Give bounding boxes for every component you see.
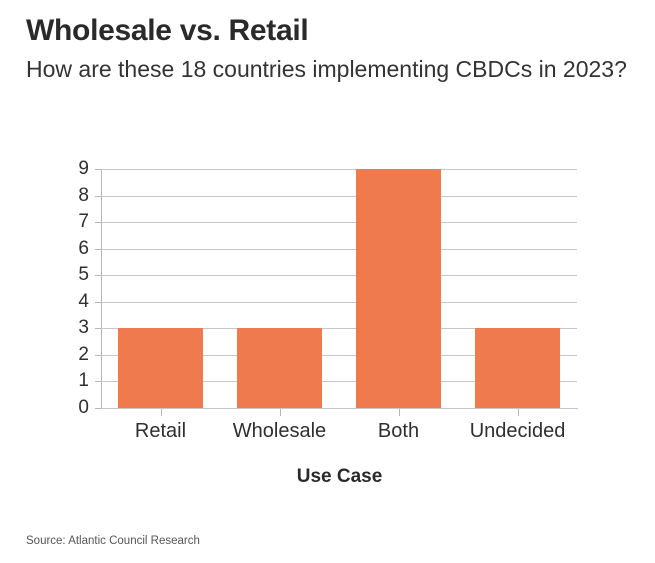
bar-undecided[interactable] (475, 328, 561, 408)
gridline (101, 169, 577, 170)
y-tick-label: 0 (49, 398, 89, 417)
gridline (101, 275, 577, 276)
gridline (101, 302, 577, 303)
y-tick-label: 8 (49, 186, 89, 205)
source-note: Source: Atlantic Council Research (26, 535, 200, 547)
y-tick-label: 1 (49, 371, 89, 390)
bar-chart-figure: # of Countries 0123456789 RetailWholesal… (0, 148, 655, 503)
x-tick-label-both: Both (378, 420, 419, 443)
y-tick-label: 9 (49, 159, 89, 178)
gridline (101, 249, 577, 250)
gridline (101, 222, 577, 223)
bar-wholesale[interactable] (237, 328, 323, 408)
gridline (101, 196, 577, 197)
bar-both[interactable] (356, 169, 442, 408)
x-tick-mark (280, 409, 281, 416)
x-axis-title: Use Case (101, 466, 578, 488)
x-tick-mark (518, 409, 519, 416)
chart-header: Wholesale vs. Retail How are these 18 co… (0, 0, 655, 84)
y-tick-label: 3 (49, 318, 89, 337)
x-tick-mark (161, 409, 162, 416)
page-title: Wholesale vs. Retail (26, 14, 655, 48)
y-tick-label: 6 (49, 239, 89, 258)
x-tick-label-wholesale: Wholesale (233, 420, 326, 443)
y-tick-label: 7 (49, 212, 89, 231)
y-tick-label: 2 (49, 345, 89, 364)
gridline (101, 408, 577, 409)
bar-retail[interactable] (118, 328, 204, 408)
y-tick-label: 5 (49, 265, 89, 284)
page-subtitle: How are these 18 countries implementing … (26, 54, 638, 84)
plot-area (101, 169, 577, 408)
x-tick-label-retail: Retail (135, 420, 186, 443)
y-tick-label: 4 (49, 292, 89, 311)
x-tick-mark (399, 409, 400, 416)
x-tick-label-undecided: Undecided (470, 420, 566, 443)
